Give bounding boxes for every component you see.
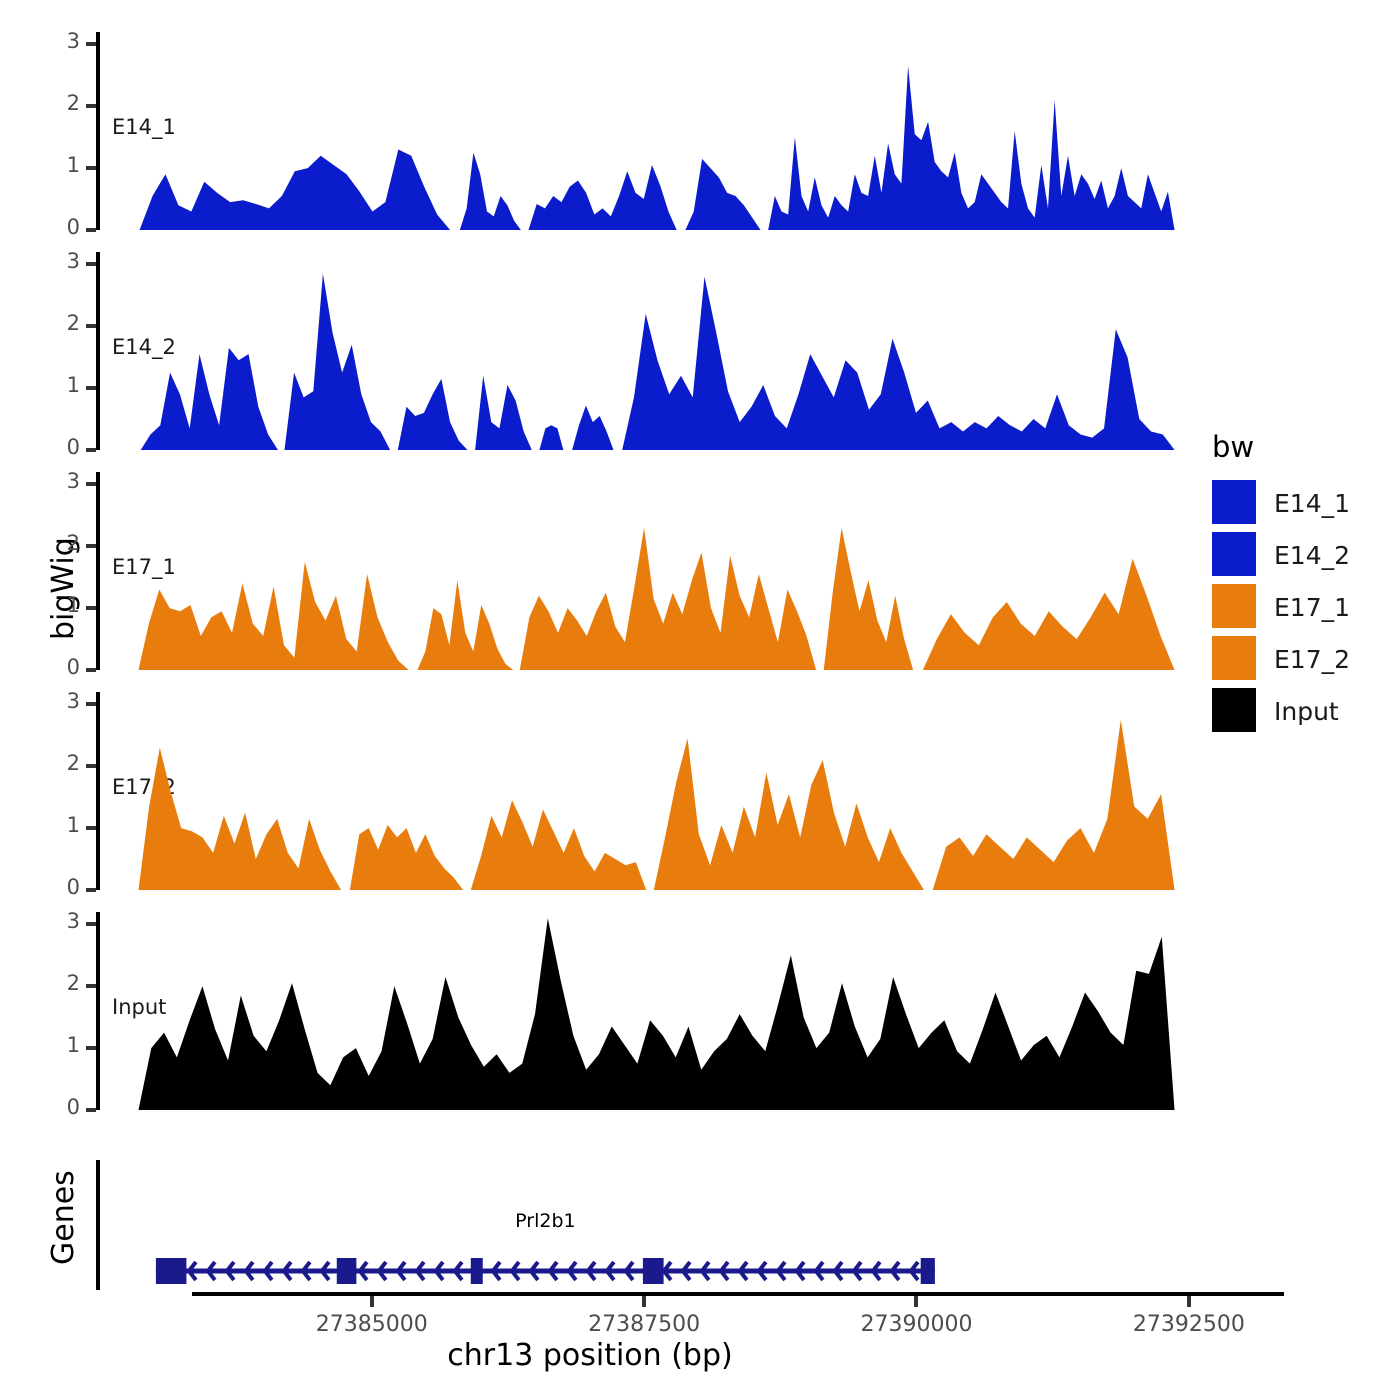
legend-key-input[interactable] [1212, 688, 1256, 732]
gene-model[interactable] [0, 1248, 1180, 1294]
gene-exon [471, 1258, 483, 1284]
track-area-segment [768, 66, 1174, 230]
track-area-segment [398, 379, 468, 450]
gene-exon [156, 1258, 187, 1284]
x-tick-label: 27387500 [534, 1312, 754, 1337]
track-plot-e14_1 [0, 32, 1180, 230]
genome-browser-figure: bigWig Genes chr13 position (bp) 0123E14… [0, 0, 1400, 1400]
legend-label-input: Input [1274, 697, 1339, 726]
legend-title: bw [1212, 430, 1254, 464]
gene-exon [337, 1258, 357, 1284]
x-tick-mark [914, 1296, 918, 1307]
legend-key-e17_1[interactable] [1212, 584, 1256, 628]
track-area-segment [471, 800, 646, 890]
track-area-segment [622, 277, 1174, 450]
track-area-segment [572, 405, 613, 450]
legend-label-e17_1: E17_1 [1274, 593, 1350, 622]
track-area-segment [350, 825, 463, 890]
track-area-segment [933, 720, 1175, 890]
track-area-segment [529, 165, 677, 230]
legend-key-e17_2[interactable] [1212, 636, 1256, 680]
track-area-segment [824, 528, 913, 670]
gene-exon [643, 1258, 664, 1284]
track-area-segment [923, 559, 1175, 670]
track-plot-e14_2 [0, 252, 1180, 450]
x-axis-title: chr13 position (bp) [0, 1338, 1180, 1373]
track-area-segment [141, 348, 278, 450]
track-plot-e17_2 [0, 692, 1180, 890]
x-tick-label: 27392500 [1079, 1312, 1299, 1337]
track-area-segment [685, 159, 760, 230]
legend-label-e14_1: E14_1 [1274, 489, 1350, 518]
x-tick-label: 27390000 [806, 1312, 1026, 1337]
x-tick-mark [370, 1296, 374, 1307]
legend-key-e14_2[interactable] [1212, 532, 1256, 576]
track-area-segment [138, 748, 341, 890]
x-tick-mark [1187, 1296, 1191, 1307]
legend-label-e17_2: E17_2 [1274, 645, 1350, 674]
track-area-segment [539, 425, 563, 450]
legend-label-e14_2: E14_2 [1274, 541, 1350, 570]
track-area-segment [520, 528, 816, 670]
track-area-segment [140, 150, 450, 230]
track-area-segment [475, 376, 532, 450]
track-plot-e17_1 [0, 472, 1180, 670]
x-tick-label: 27385000 [262, 1312, 482, 1337]
track-area-segment [460, 153, 521, 230]
track-plot-input [0, 912, 1180, 1110]
track-area-segment [417, 580, 513, 670]
gene-name-label: Prl2b1 [425, 1210, 665, 1232]
gene-exon [921, 1258, 935, 1284]
track-area-segment [284, 274, 390, 450]
track-area-segment [138, 918, 1174, 1110]
x-axis-line [192, 1292, 1284, 1296]
track-area-segment [654, 738, 924, 890]
legend-key-e14_1[interactable] [1212, 480, 1256, 524]
track-area-segment [138, 562, 408, 670]
x-tick-mark [642, 1296, 646, 1307]
